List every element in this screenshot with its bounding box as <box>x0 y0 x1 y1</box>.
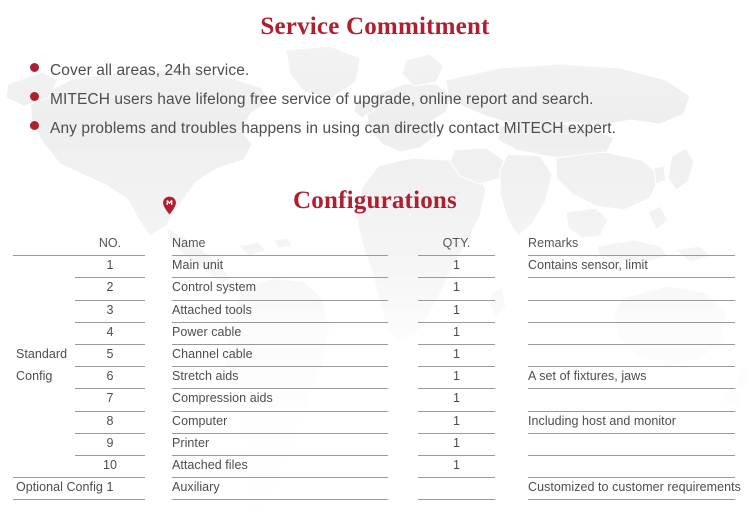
row-qty: 1 <box>418 325 495 339</box>
table-row: 8 Computer 1 Including host and monitor <box>0 412 750 434</box>
row-qty: 1 <box>418 303 495 317</box>
table-row: Optional Config 1 Auxiliary Customized t… <box>0 478 750 500</box>
row-qty: 1 <box>418 458 495 472</box>
row-name: Attached files <box>172 458 248 472</box>
row-remarks: Contains sensor, limit <box>528 258 648 272</box>
bullet-dot-icon <box>30 121 39 130</box>
column-header-no: NO. <box>75 236 145 250</box>
service-commitment-title: Service Commitment <box>0 12 750 42</box>
row-no: 1 <box>75 480 145 494</box>
row-no: 5 <box>75 347 145 361</box>
table-row: 9 Printer 1 <box>0 434 750 456</box>
row-no: 2 <box>75 280 145 294</box>
row-group-label: Config <box>16 369 52 383</box>
row-no: 8 <box>75 414 145 428</box>
row-name: Power cable <box>172 325 241 339</box>
column-header-remarks: Remarks <box>528 236 578 250</box>
row-remarks: Including host and monitor <box>528 414 676 428</box>
list-item-label: MITECH users have lifelong free service … <box>50 91 594 109</box>
table-row: Standard 5 Channel cable 1 <box>0 345 750 367</box>
row-qty: 1 <box>418 391 495 405</box>
configurations-title: Configurations <box>0 186 750 216</box>
row-no: 6 <box>75 369 145 383</box>
table-row: 7 Compression aids 1 <box>0 389 750 411</box>
row-qty: 1 <box>418 280 495 294</box>
row-no: 9 <box>75 436 145 450</box>
row-remarks: A set of fixtures, jaws <box>528 369 647 383</box>
row-name: Main unit <box>172 258 223 272</box>
map-pin-icon <box>162 196 177 215</box>
row-qty: 1 <box>418 258 495 272</box>
row-qty: 1 <box>418 369 495 383</box>
rule-qty <box>418 499 495 500</box>
list-item: MITECH users have lifelong free service … <box>30 91 730 120</box>
row-name: Attached tools <box>172 303 252 317</box>
row-name: Compression aids <box>172 391 273 405</box>
bullet-dot-icon <box>30 63 39 72</box>
row-no: 7 <box>75 391 145 405</box>
rule-name <box>172 499 388 500</box>
row-no: 4 <box>75 325 145 339</box>
row-no: 1 <box>75 258 145 272</box>
list-item-label: Cover all areas, 24h service. <box>50 62 249 80</box>
row-group-label: Standard <box>16 347 67 361</box>
row-remarks: Customized to customer requirements <box>528 480 741 494</box>
row-name: Channel cable <box>172 347 253 361</box>
rule-no <box>13 499 145 500</box>
slide-page: Service Commitment Cover all areas, 24h … <box>0 0 750 523</box>
table-row: 4 Power cable 1 <box>0 323 750 345</box>
row-name: Computer <box>172 414 227 428</box>
configurations-table: NO. Name QTY. Remarks 1 Main unit 1 Cont… <box>0 234 750 500</box>
column-header-qty: QTY. <box>418 236 495 250</box>
row-qty: 1 <box>418 414 495 428</box>
row-name: Control system <box>172 280 256 294</box>
table-row: 1 Main unit 1 Contains sensor, limit <box>0 256 750 278</box>
row-no: 10 <box>75 458 145 472</box>
table-row: 10 Attached files 1 <box>0 456 750 478</box>
row-no: 3 <box>75 303 145 317</box>
row-name: Stretch aids <box>172 369 239 383</box>
table-row: 2 Control system 1 <box>0 278 750 300</box>
row-qty: 1 <box>418 347 495 361</box>
list-item: Cover all areas, 24h service. <box>30 62 730 91</box>
column-header-name: Name <box>172 236 206 250</box>
bullet-dot-icon <box>30 92 39 101</box>
list-item-label: Any problems and troubles happens in usi… <box>50 120 616 138</box>
service-commitment-list: Cover all areas, 24h service. MITECH use… <box>30 62 730 149</box>
list-item: Any problems and troubles happens in usi… <box>30 120 730 149</box>
rule-remarks <box>528 499 735 500</box>
table-header-row: NO. Name QTY. Remarks <box>0 234 750 256</box>
row-name: Auxiliary <box>172 480 220 494</box>
row-qty: 1 <box>418 436 495 450</box>
row-name: Printer <box>172 436 209 450</box>
table-row: Config 6 Stretch aids 1 A set of fixture… <box>0 367 750 389</box>
table-row: 3 Attached tools 1 <box>0 301 750 323</box>
